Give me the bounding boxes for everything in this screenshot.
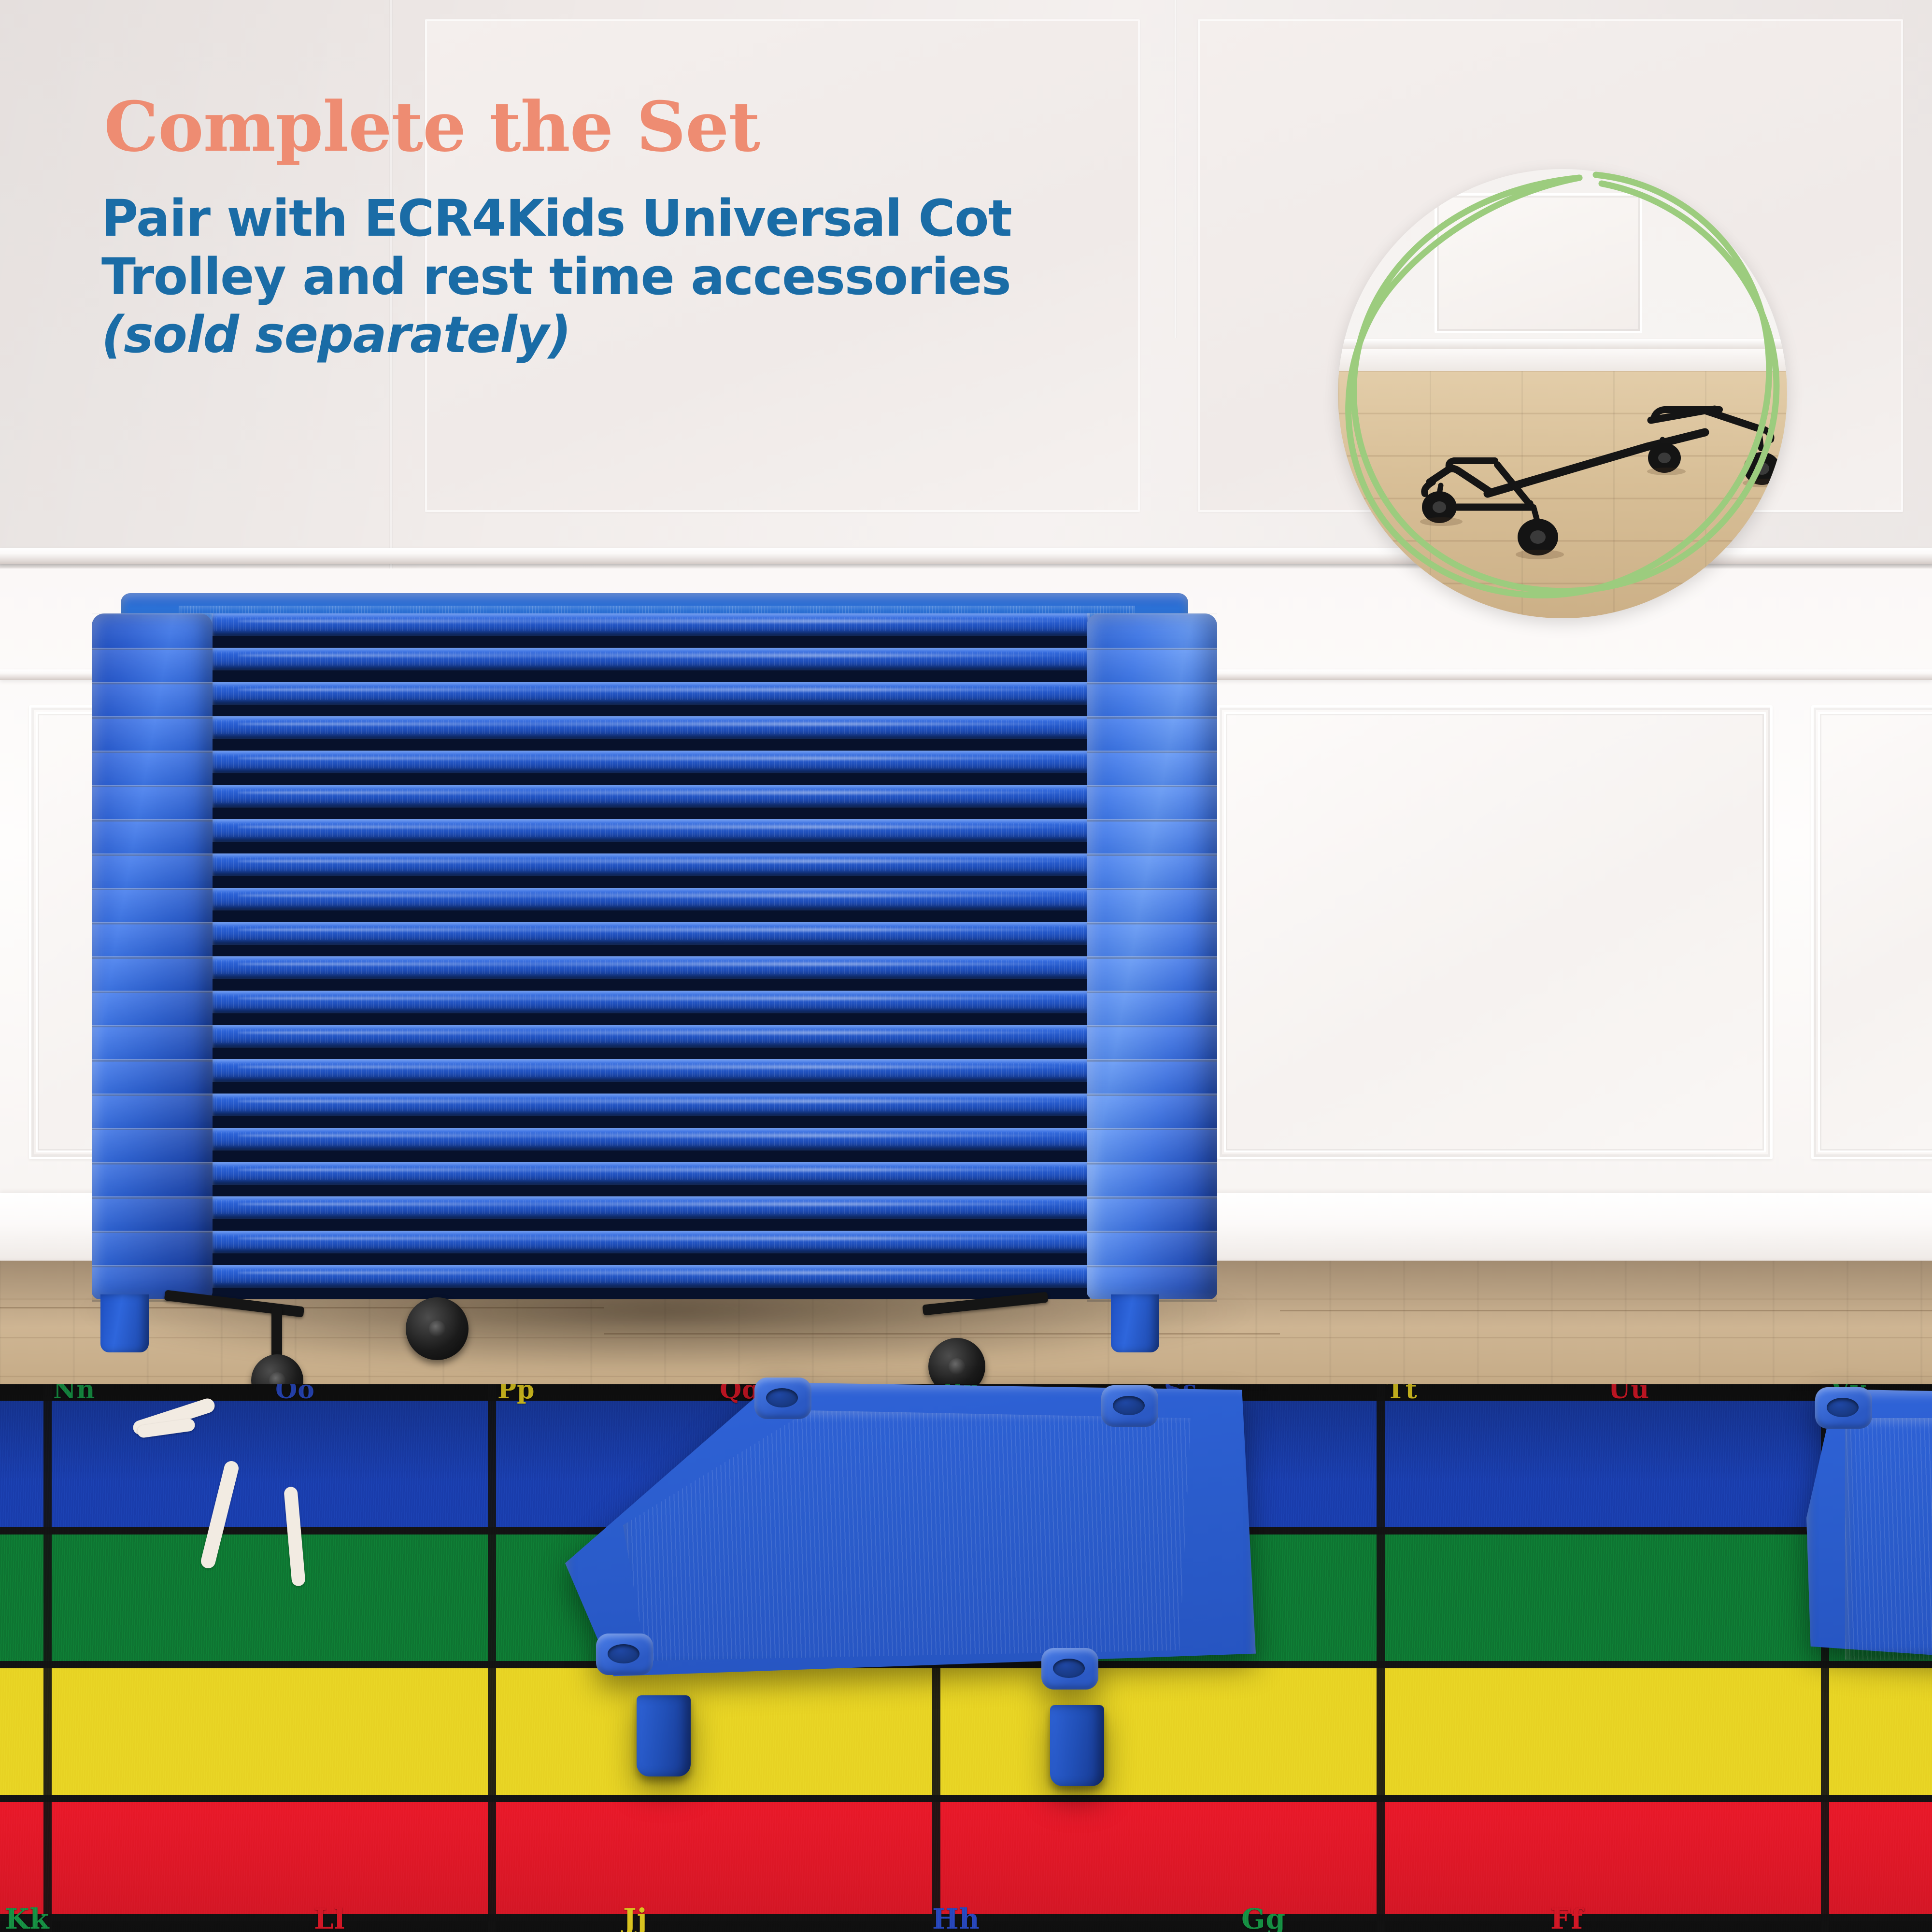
rail-mesh-texture: [212, 1132, 1090, 1146]
end-cap-segment: [92, 785, 213, 822]
end-cap-segment: [1087, 922, 1217, 959]
cot-corner-cup: [596, 1634, 653, 1675]
carpet-letter: Oo: [275, 1384, 315, 1403]
end-cap-segment: [1087, 888, 1217, 924]
rail-mesh-texture: [212, 823, 1090, 837]
headline: Complete the Set: [104, 93, 760, 161]
subheadline-note: (sold separately): [101, 306, 1011, 364]
end-cap-segment: [1087, 1059, 1217, 1096]
rail-mesh-texture: [212, 789, 1090, 803]
carpet-gridline: [0, 1795, 1932, 1802]
end-cap-segment: [92, 1128, 213, 1165]
cot-side-rail: [212, 1128, 1090, 1151]
carpet-letter-bottom: Kk: [5, 1905, 50, 1932]
end-cap-segment: [92, 751, 213, 787]
cot-side-rail: [212, 613, 1090, 636]
end-cap-segment: [92, 922, 213, 959]
cot-side-rail: [212, 648, 1090, 670]
rail-mesh-texture: [212, 686, 1090, 700]
end-cap-segment: [1087, 991, 1217, 1027]
rail-mesh-texture: [212, 1097, 1090, 1111]
stack-end-cap-left: [92, 613, 213, 1299]
end-cap-segment: [92, 991, 213, 1027]
carpet-letter: Pp: [497, 1384, 535, 1403]
carpet-letter: Uu: [1608, 1384, 1649, 1403]
cot-side-rail: [212, 785, 1090, 808]
rail-mesh-texture: [212, 1166, 1090, 1180]
end-cap-segment: [1087, 853, 1217, 890]
end-cap-segment: [1087, 682, 1217, 719]
end-cap-segment: [1087, 751, 1217, 787]
end-cap-segment: [92, 1059, 213, 1096]
rail-mesh-texture: [212, 1269, 1090, 1283]
subheadline-line-2: Trolley and rest time accessories: [101, 248, 1011, 306]
wall-seam: [1174, 0, 1177, 338]
cot-side-rail: [212, 991, 1090, 1013]
cot-leg: [637, 1695, 691, 1776]
end-cap-segment: [92, 1196, 213, 1233]
end-cap-segment: [92, 1025, 213, 1062]
end-cap-segment: [92, 888, 213, 924]
single-cot-partial-right: [1806, 1389, 1932, 1747]
end-cap-segment: [92, 853, 213, 890]
end-cap-segment: [1087, 613, 1217, 650]
cot-trolley-inset: [1338, 169, 1787, 618]
cot-side-rail: [212, 922, 1090, 945]
end-cap-segment: [1087, 1196, 1217, 1233]
carpet-letter-bottom: Gg: [1241, 1905, 1286, 1932]
end-cap-segment: [92, 613, 213, 650]
cot-corner-cup: [1101, 1385, 1158, 1427]
carpet-letter-bottom: Jj: [623, 1905, 647, 1932]
carpet-gridline: [488, 1384, 496, 1932]
inset-photo: [1338, 169, 1787, 618]
end-cap-segment: [1087, 1094, 1217, 1130]
cot-side-rail: [212, 888, 1090, 910]
cot-side-rail: [212, 1094, 1090, 1116]
caster-wheel: [406, 1297, 469, 1360]
end-cap-segment: [1087, 1231, 1217, 1267]
end-cap-segment: [92, 648, 213, 684]
cot-corner-cup: [1815, 1387, 1872, 1429]
rail-mesh-texture: [212, 960, 1090, 974]
cot-corner-cup: [754, 1378, 811, 1419]
subheadline: Pair with ECR4Kids Universal Cot Trolley…: [101, 189, 1011, 364]
carpet-letter-bottom: Ff: [1550, 1905, 1583, 1932]
end-cap-segment: [92, 1231, 213, 1267]
cot-side-rail: [212, 682, 1090, 705]
end-cap-segment: [92, 1094, 213, 1130]
stack-leg: [100, 1294, 149, 1352]
cot-side-rail: [212, 716, 1090, 739]
rail-mesh-texture: [212, 857, 1090, 871]
end-cap-segment: [1087, 1025, 1217, 1062]
stack-leg: [1111, 1294, 1159, 1352]
cot-side-rail: [212, 819, 1090, 842]
carpet-gridline: [43, 1384, 52, 1932]
cot-trolley-icon: [1338, 169, 1787, 618]
rail-mesh-texture: [212, 652, 1090, 666]
wainscot-panel: [1217, 705, 1773, 1159]
cot-side-rail: [212, 1265, 1090, 1288]
rail-mesh-texture: [212, 892, 1090, 906]
end-cap-segment: [92, 956, 213, 993]
carpet-letter-bottom: Hh: [932, 1905, 980, 1932]
cot-side-rail: [212, 1162, 1090, 1185]
floor-plank-seam: [1280, 1310, 1932, 1311]
end-cap-segment: [1087, 1162, 1217, 1199]
rail-mesh-texture: [212, 1063, 1090, 1077]
rail-mesh-texture: [212, 720, 1090, 734]
rail-mesh-texture: [212, 926, 1090, 940]
rail-mesh-texture: [212, 1235, 1090, 1249]
end-cap-segment: [92, 716, 213, 753]
caster-arm: [271, 1307, 282, 1360]
cot-corner-cup: [1041, 1648, 1098, 1690]
cot-side-rail: [212, 956, 1090, 979]
product-marketing-image: NnOoPpQqRrSsTtUuVv KkLlJjHhGgFf: [0, 0, 1932, 1932]
rail-mesh-texture: [212, 617, 1090, 631]
cot-side-rail: [212, 1196, 1090, 1219]
cot-side-rail: [212, 1059, 1090, 1082]
carpet-stripe-red: [0, 1802, 1932, 1914]
cot-deck: [1845, 1418, 1932, 1660]
rail-mesh-texture: [212, 1200, 1090, 1214]
stack-end-cap-right: [1087, 613, 1217, 1299]
rail-mesh-texture: [212, 1029, 1090, 1043]
cot-side-rail: [212, 1231, 1090, 1253]
end-cap-segment: [92, 682, 213, 719]
rail-mesh-texture: [212, 754, 1090, 768]
end-cap-segment: [1087, 956, 1217, 993]
end-cap-segment: [1087, 1128, 1217, 1165]
cot-side-rails: [212, 613, 1090, 1299]
rail-mesh-texture: [212, 994, 1090, 1009]
carpet-letter-bottom: Ll: [314, 1905, 345, 1932]
end-cap-segment: [1087, 819, 1217, 856]
end-cap-segment: [1087, 648, 1217, 684]
cot-side-rail: [212, 751, 1090, 773]
carpet-letter: Tt: [1386, 1384, 1418, 1403]
cot-leg: [1050, 1705, 1104, 1786]
carpet-gridline: [1377, 1384, 1385, 1932]
carpet-letter: Nn: [53, 1384, 95, 1403]
cot-side-rail: [212, 1025, 1090, 1048]
cot-side-rail: [212, 853, 1090, 876]
subheadline-line-1: Pair with ECR4Kids Universal Cot: [101, 189, 1011, 248]
stacked-cots: [92, 613, 1212, 1367]
end-cap-segment: [92, 819, 213, 856]
end-cap-segment: [1087, 716, 1217, 753]
end-cap-segment: [1087, 785, 1217, 822]
end-cap-segment: [92, 1162, 213, 1199]
single-cot: [565, 1382, 1256, 1759]
wainscot-panel: [1811, 705, 1932, 1159]
